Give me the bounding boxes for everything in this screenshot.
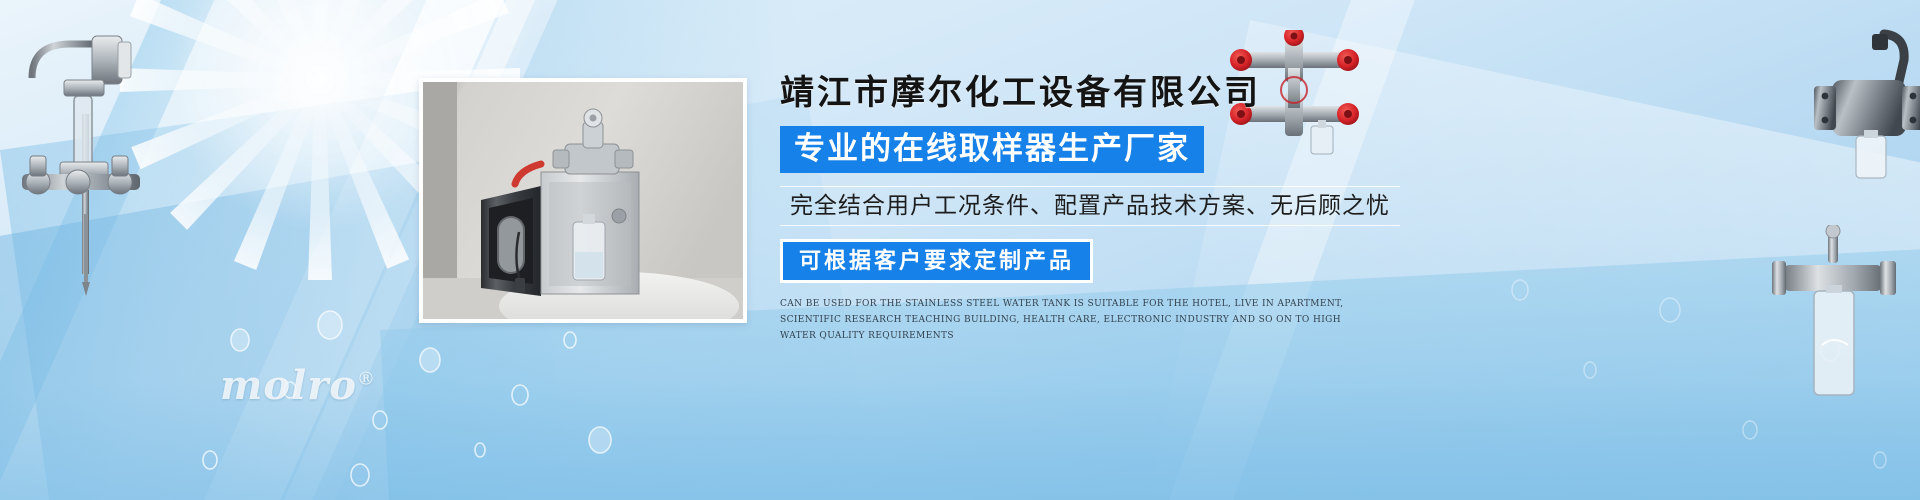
flanged-valve-right-icon xyxy=(1798,28,1920,183)
cta-row: 可根据客户要求定制产品 xyxy=(780,239,1400,283)
product-photo-image xyxy=(423,82,743,319)
sampler-assembly-left-icon xyxy=(8,18,168,298)
registered-mark-icon: ® xyxy=(357,369,376,390)
english-description: CAN BE USED FOR THE STAINLESS STEEL WATE… xyxy=(780,297,1380,344)
banner-text-block: 靖江市摩尔化工设备有限公司 专业的在线取样器生产厂家 完全结合用户工况条件、配置… xyxy=(780,72,1400,344)
headline-highlight: 专业的在线取样器生产厂家 xyxy=(780,126,1204,173)
subline-wrapper: 完全结合用户工况条件、配置产品技术方案、无后顾之忧 xyxy=(780,186,1400,226)
custom-product-cta-button[interactable]: 可根据客户要求定制产品 xyxy=(780,239,1093,283)
product-photo xyxy=(419,78,747,323)
promo-banner: 靖江市摩尔化工设备有限公司 专业的在线取样器生产厂家 完全结合用户工况条件、配置… xyxy=(0,0,1920,500)
sampling-valve-bottom-right-icon xyxy=(1770,225,1900,415)
watermark-logo: molro® xyxy=(220,362,376,409)
watermark-text: molro xyxy=(220,362,357,409)
company-title: 靖江市摩尔化工设备有限公司 xyxy=(780,72,1400,115)
subline-text: 完全结合用户工况条件、配置产品技术方案、无后顾之忧 xyxy=(780,186,1400,226)
